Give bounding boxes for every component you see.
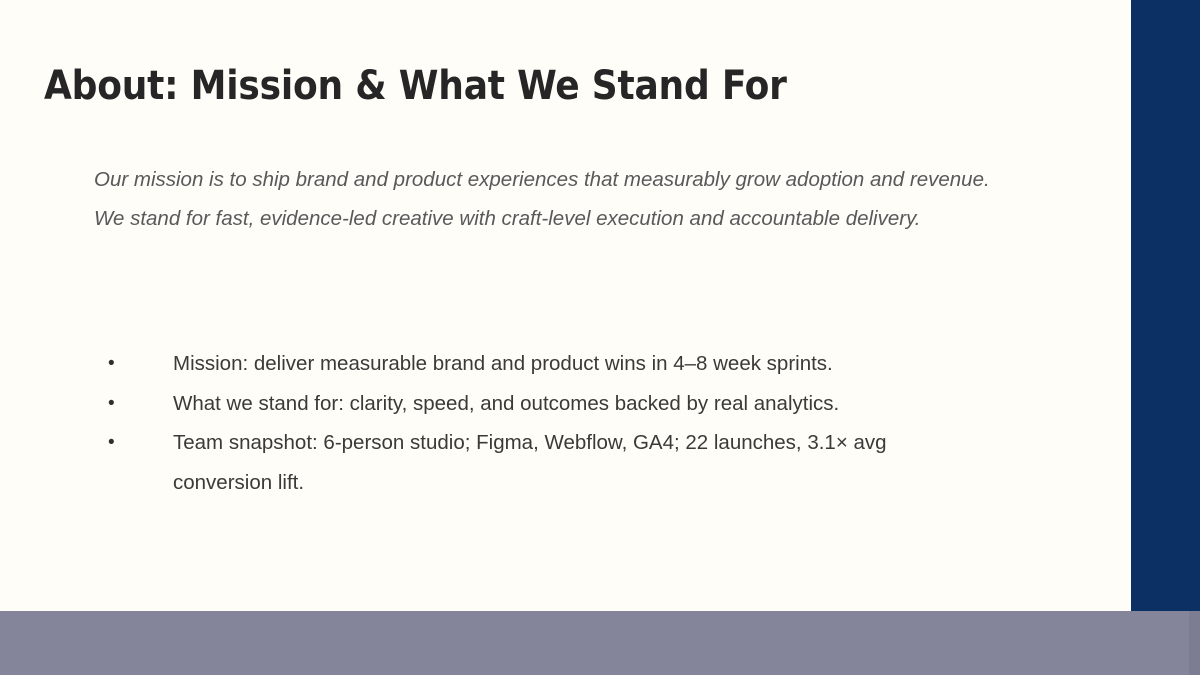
slide-canvas: About: Mission & What We Stand For Our m… <box>0 0 1200 675</box>
bullet-point-icon: • <box>108 384 120 424</box>
bottom-band <box>0 611 1200 675</box>
list-item: • Team snapshot: 6-person studio; Figma,… <box>108 423 988 502</box>
list-item-label: Mission: deliver measurable brand and pr… <box>173 344 988 384</box>
list-item-label: What we stand for: clarity, speed, and o… <box>173 384 988 424</box>
bullet-point-icon: • <box>108 344 120 384</box>
list-item: • Mission: deliver measurable brand and … <box>108 344 988 384</box>
page-title: About: Mission & What We Stand For <box>44 62 787 110</box>
bullet-list: • Mission: deliver measurable brand and … <box>108 344 988 502</box>
list-item: • What we stand for: clarity, speed, and… <box>108 384 988 424</box>
right-accent-bar <box>1131 0 1200 675</box>
list-item-label: Team snapshot: 6-person studio; Figma, W… <box>173 423 988 502</box>
bullet-point-icon: • <box>108 423 120 463</box>
bottom-band-right-edge <box>1189 611 1200 675</box>
mission-statement: Our mission is to ship brand and product… <box>94 160 994 238</box>
